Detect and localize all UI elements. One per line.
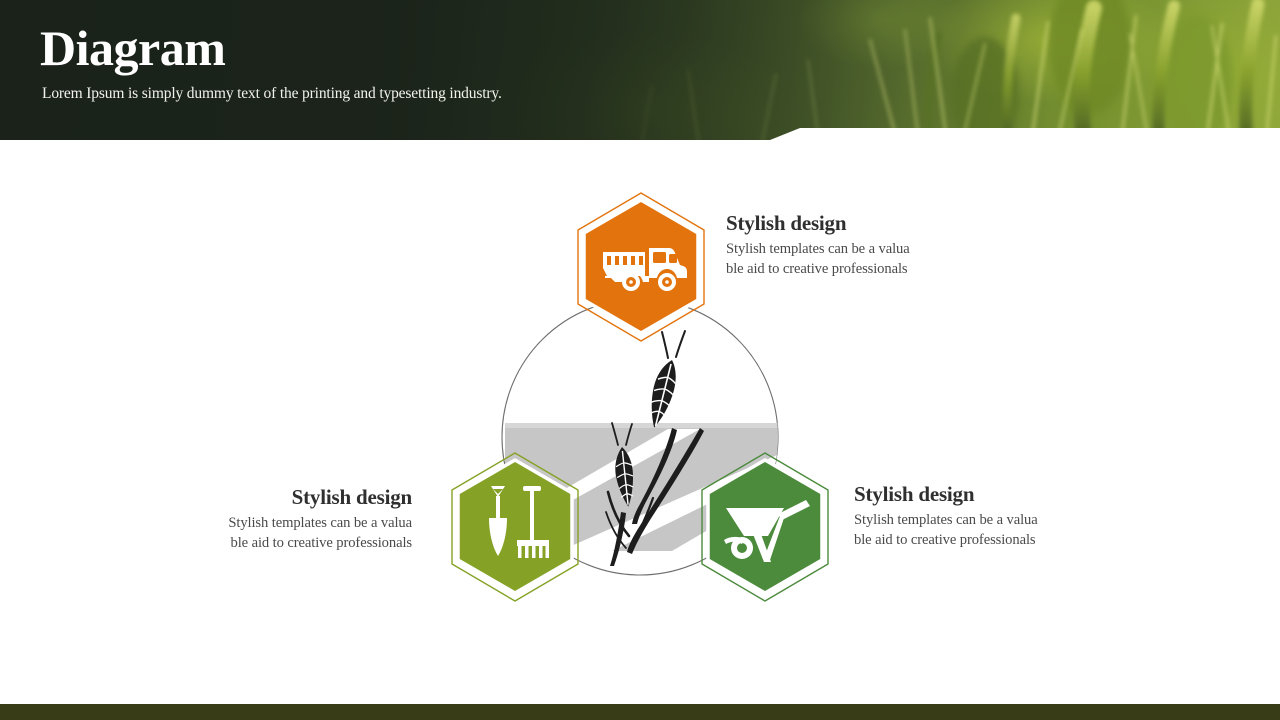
node-left-title: Stylish design — [152, 485, 412, 510]
node-left-body: Stylish templates can be a valua ble aid… — [152, 514, 412, 553]
page-subtitle: Lorem Ipsum is simply dummy text of the … — [42, 84, 502, 103]
node-right-title: Stylish design — [854, 482, 1104, 507]
node-top-text-block: Stylish design Stylish templates can be … — [726, 211, 996, 279]
node-top-body: Stylish templates can be a valua ble aid… — [726, 240, 996, 279]
node-left-text-block: Stylish design Stylish templates can be … — [152, 485, 412, 553]
bottom-accent-bar — [0, 704, 1280, 720]
header-banner: Diagram Lorem Ipsum is simply dummy text… — [0, 0, 1280, 152]
node-right-text-block: Stylish design Stylish templates can be … — [854, 482, 1104, 550]
title-block: Diagram Lorem Ipsum is simply dummy text… — [40, 18, 502, 103]
slide-canvas: Diagram Lorem Ipsum is simply dummy text… — [0, 0, 1280, 720]
diagram-area — [0, 152, 1280, 704]
page-title: Diagram — [40, 18, 502, 78]
node-right-body: Stylish templates can be a valua ble aid… — [854, 511, 1104, 550]
node-top-title: Stylish design — [726, 211, 996, 236]
diagram-graphic — [0, 152, 1280, 704]
